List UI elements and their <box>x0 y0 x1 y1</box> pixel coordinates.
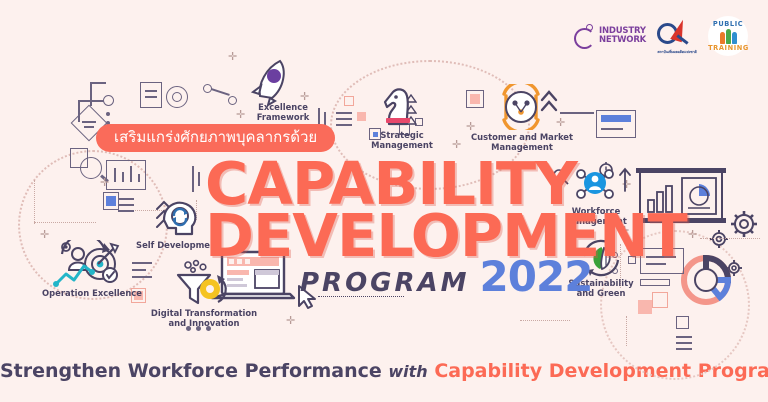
program-label: PROGRAM <box>300 268 470 298</box>
bracket-line <box>198 172 200 186</box>
sparkle-icon: ✛ <box>236 110 245 121</box>
sparkle-icon: ✛ <box>228 52 237 63</box>
dotted-line <box>700 238 760 239</box>
small-square <box>344 96 354 106</box>
dotted-line <box>626 316 627 346</box>
rocket-icon <box>250 58 294 106</box>
chart-bar <box>122 172 124 182</box>
topic-label-excellence-framework: Excellence Framework <box>248 102 318 122</box>
topic-icon-self-development <box>158 196 202 245</box>
diamond-line <box>84 126 94 128</box>
list-card-bar <box>640 279 670 286</box>
topic-label-strategic-management: Strategic Management <box>366 130 438 150</box>
document-icon <box>140 82 162 108</box>
diamond-line <box>82 121 96 123</box>
list-line <box>118 204 134 206</box>
dotted-line <box>34 180 35 224</box>
search-icon <box>80 157 102 179</box>
dot <box>106 112 110 116</box>
small-square-filled <box>470 94 480 104</box>
list-line <box>132 269 146 271</box>
small-square-fill <box>106 196 116 206</box>
sparkle-icon: ✛ <box>688 230 697 241</box>
topic-label-operation-excellence: Operation Excellence <box>34 288 150 298</box>
year-label: 2022 <box>480 252 593 301</box>
subtitle-row: PROGRAM 2022 <box>300 252 592 301</box>
bracket-line <box>90 82 106 84</box>
thai-ribbon-text: เสริมแกร่งศักยภาพบุคลากรด้วย <box>96 124 335 152</box>
topic-label-digital-transformation-and-innovation: Digital Transformation and Innovation <box>140 308 268 328</box>
message-card-line <box>601 128 623 130</box>
gear-icon <box>708 228 730 255</box>
message-card-fill <box>601 115 631 122</box>
node-circle-icon <box>103 95 114 106</box>
list-line <box>336 112 352 114</box>
small-square-filled <box>357 112 366 121</box>
small-square-filled <box>638 300 652 314</box>
list-line <box>132 276 152 278</box>
document-line <box>145 90 157 92</box>
node-circle-icon <box>228 96 237 105</box>
sparkle-icon: ✛ <box>286 316 295 327</box>
chart-frame-icon <box>106 160 146 190</box>
connector-line <box>211 88 230 95</box>
list-line <box>336 124 352 126</box>
bracket-line <box>192 166 194 192</box>
list-line <box>676 342 692 344</box>
list-line <box>118 210 134 212</box>
gear-inner-icon <box>172 92 182 102</box>
chart-bar <box>130 166 132 182</box>
sparkle-icon: ✛ <box>556 118 565 129</box>
bracket-line <box>90 82 92 106</box>
small-square <box>652 292 668 308</box>
small-square <box>676 316 689 329</box>
connector-line <box>560 112 594 114</box>
list-line <box>676 336 692 338</box>
list-line <box>336 118 352 120</box>
topic-icon-strategic-management <box>375 84 421 135</box>
dotted-line <box>520 320 570 321</box>
poster-canvas: ✛ ✛ ✛ ✛ ✛ ✛ ✛ ✛ ✛ ✛ ✛ ✛ ✛ <box>0 0 768 402</box>
gear-icon <box>728 208 760 245</box>
list-line <box>118 198 134 200</box>
dotted-line <box>34 222 96 223</box>
sparkle-icon: ✛ <box>100 178 109 189</box>
chart-bar <box>138 174 140 182</box>
topic-icon-customer-and-market-management <box>496 84 546 135</box>
chart-bar <box>114 168 116 182</box>
document-line <box>145 96 157 98</box>
list-line <box>132 262 152 264</box>
list-line <box>676 348 692 350</box>
sparkle-icon: ✛ <box>40 230 49 241</box>
headline-block: CAPABILITY DEVELOPMENT <box>205 158 687 262</box>
